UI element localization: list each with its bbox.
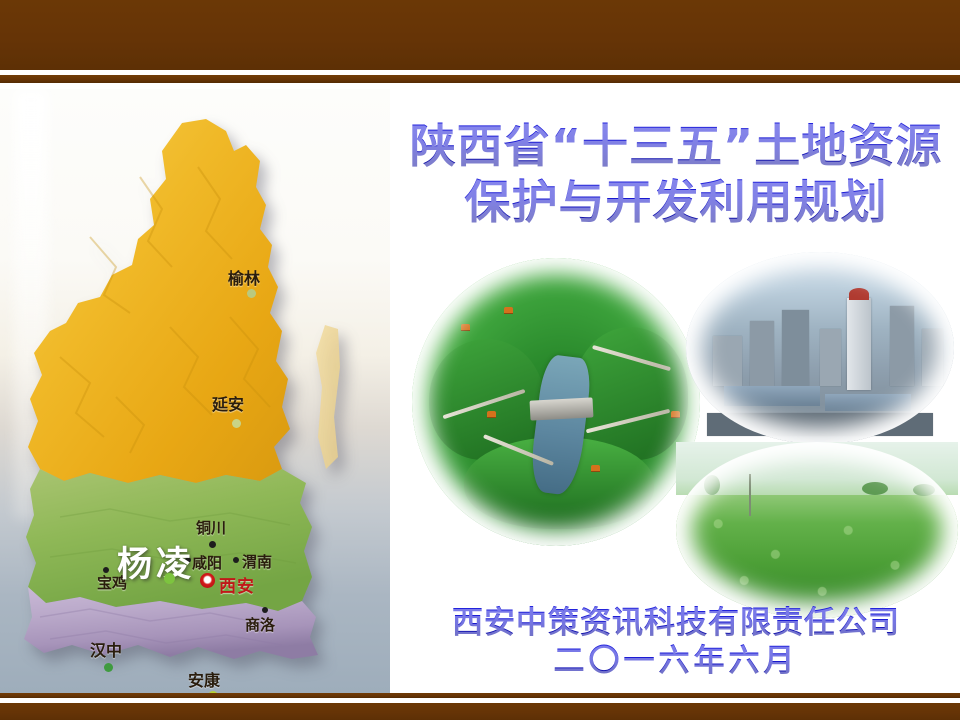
capital-label-xian: 西安 — [219, 572, 255, 597]
footer-date: 二〇一六年六月 — [392, 642, 960, 680]
city-dot-hanzhong — [104, 663, 113, 672]
city-dot-yanan — [232, 419, 241, 428]
bottom-accent-bar-thin — [0, 693, 960, 698]
city-label-hanzhong: 汉中 — [90, 637, 122, 661]
city-label-xianyang: 咸阳 — [192, 552, 222, 573]
mountain-photo-vignette — [412, 258, 700, 546]
farm-photo-vignette — [676, 442, 958, 618]
city-dot-yangling — [164, 573, 175, 584]
city-dot-tongchuan — [209, 541, 216, 548]
bottom-accent-bar-thick — [0, 703, 960, 720]
city-label-ankang: 安康 — [188, 667, 220, 691]
city-dot-weinan — [233, 557, 239, 563]
city-label-weinan: 渭南 — [242, 551, 272, 572]
presentation-slide: 榆林 延安 铜川 咸阳 渭南 宝鸡 商洛 汉中 安康 杨凌 西安 陕西省“十三五… — [0, 0, 960, 720]
city-label-yanan: 延安 — [212, 391, 244, 415]
city-dot-baoji — [103, 567, 109, 573]
capital-dot-xian — [200, 573, 215, 588]
city-label-shangluo: 商洛 — [245, 614, 275, 635]
photo-mountain-dam-landscape — [412, 258, 700, 546]
photo-city-skyline — [686, 252, 954, 444]
slide-title-line-2: 保护与开发利用规划 — [392, 174, 960, 230]
footer-company-name: 西安中策资讯科技有限责任公司 — [392, 604, 960, 642]
shaanxi-relief-map-photo: 榆林 延安 铜川 咸阳 渭南 宝鸡 商洛 汉中 安康 杨凌 西安 — [0, 89, 390, 693]
slide-title-line-1: 陕西省“十三五”土地资源 — [392, 118, 960, 174]
city-dot-yulin — [247, 289, 256, 298]
city-photo-vignette — [686, 252, 954, 444]
top-accent-bar-thick — [0, 0, 960, 70]
photo-farmland-crops — [676, 442, 958, 618]
top-accent-bar-thin — [0, 75, 960, 83]
city-dot-ankang — [208, 691, 218, 693]
slide-title: 陕西省“十三五”土地资源 保护与开发利用规划 — [392, 118, 960, 230]
city-label-yulin: 榆林 — [228, 265, 260, 289]
city-label-tongchuan: 铜川 — [196, 517, 226, 538]
city-dot-shangluo — [262, 607, 268, 613]
slide-footer: 西安中策资讯科技有限责任公司 二〇一六年六月 — [392, 604, 960, 680]
map-label-yangling: 杨凌 — [117, 536, 195, 587]
